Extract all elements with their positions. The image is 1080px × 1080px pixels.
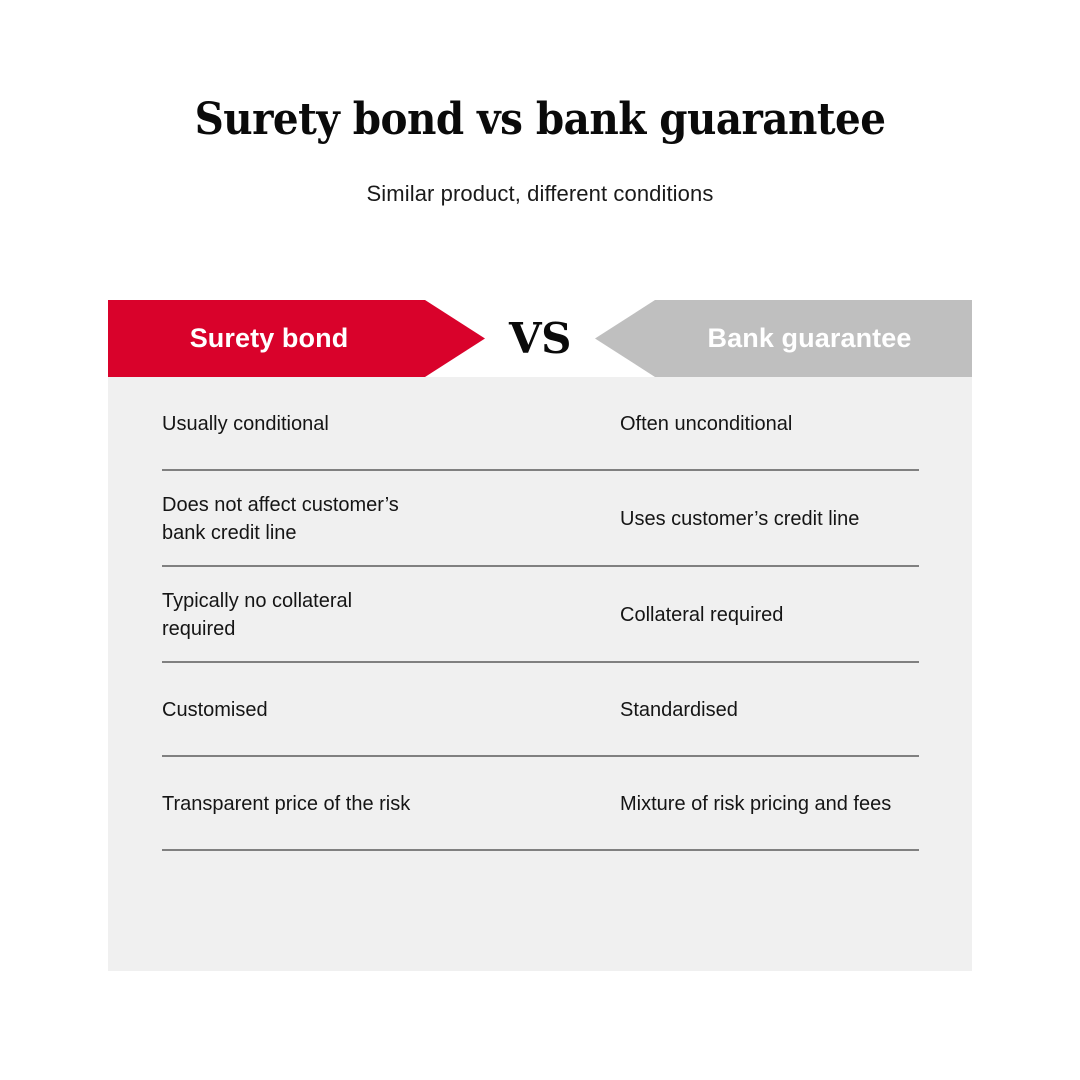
bank-guarantee-arrow-header: Bank guarantee <box>595 300 972 377</box>
page-subtitle: Similar product, different conditions <box>0 144 1080 207</box>
table-row: Transparent price of the risk Mixture of… <box>108 757 972 851</box>
comparison-header-banner: Surety bond VS Bank guarantee <box>108 300 972 377</box>
row-right-value: Uses customer’s credit line <box>620 505 918 533</box>
bank-guarantee-column-label: Bank guarantee <box>708 323 912 354</box>
row-right-value: Mixture of risk pricing and fees <box>620 790 918 818</box>
title-block: Surety bond vs bank guarantee Similar pr… <box>0 96 1080 207</box>
row-left-value: Usually conditional <box>162 410 620 438</box>
row-left-value: Transparent price of the risk <box>162 790 620 818</box>
comparison-rows: Usually conditional Often unconditional … <box>108 377 972 851</box>
row-left-value: Typically no collateral required <box>162 587 620 644</box>
comparison-panel: Surety bond VS Bank guarantee Usually co… <box>108 300 972 971</box>
table-row: Usually conditional Often unconditional <box>108 377 972 471</box>
page-title: Surety bond vs bank guarantee <box>43 96 1037 144</box>
surety-bond-arrow-header: Surety bond <box>108 300 485 377</box>
row-right-value: Often unconditional <box>620 410 918 438</box>
table-row: Typically no collateral required Collate… <box>108 567 972 663</box>
table-row: Does not affect customer’s bank credit l… <box>108 471 972 567</box>
row-right-value: Standardised <box>620 696 918 724</box>
row-divider <box>162 849 919 851</box>
vs-badge: VS <box>485 300 595 377</box>
row-left-value: Customised <box>162 696 620 724</box>
row-left-value: Does not affect customer’s bank credit l… <box>162 491 620 548</box>
table-row: Customised Standardised <box>108 663 972 757</box>
row-right-value: Collateral required <box>620 601 918 629</box>
surety-bond-column-label: Surety bond <box>190 323 349 354</box>
